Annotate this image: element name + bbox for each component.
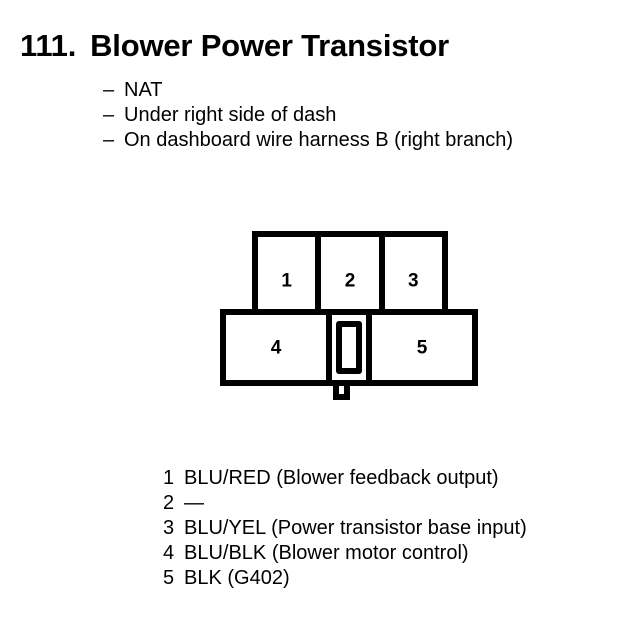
dash-icon: – bbox=[103, 103, 124, 128]
pin-number-5: 5 bbox=[372, 338, 472, 357]
dash-icon: – bbox=[103, 128, 124, 153]
pin-legend: 1 BLU/RED (Blower feedback output) 2 — 3… bbox=[163, 466, 603, 591]
legend-pin-number: 4 bbox=[163, 541, 184, 566]
page-title-number: 111. bbox=[20, 28, 76, 63]
connector-latch-icon bbox=[326, 315, 372, 380]
note-text: NAT bbox=[124, 78, 163, 103]
dash-icon: – bbox=[103, 78, 124, 103]
connector-cell-1: 1 bbox=[258, 237, 321, 315]
legend-pin-description: BLU/RED (Blower feedback output) bbox=[184, 466, 499, 491]
note-item: – NAT bbox=[103, 78, 623, 103]
connector-cell-2: 2 bbox=[321, 237, 384, 315]
legend-pin-description: — bbox=[184, 491, 204, 516]
legend-pin-description: BLU/YEL (Power transistor base input) bbox=[184, 516, 527, 541]
connector-lock-tab-icon bbox=[333, 386, 350, 400]
legend-row: 3 BLU/YEL (Power transistor base input) bbox=[163, 516, 603, 541]
page-title-label: Blower Power Transistor bbox=[90, 28, 449, 63]
legend-pin-description: BLK (G402) bbox=[184, 566, 290, 591]
note-text: Under right side of dash bbox=[124, 103, 336, 128]
connector-top-row: 1 2 3 bbox=[252, 231, 448, 315]
legend-pin-number: 1 bbox=[163, 466, 184, 491]
pin-number-1: 1 bbox=[258, 271, 315, 290]
legend-row: 2 — bbox=[163, 491, 603, 516]
pin-number-4: 4 bbox=[226, 338, 326, 357]
connector-cell-5: 5 bbox=[372, 315, 472, 380]
connector-diagram: 1 2 3 4 5 bbox=[220, 231, 478, 407]
note-item: – On dashboard wire harness B (right bra… bbox=[103, 128, 623, 153]
legend-pin-number: 3 bbox=[163, 516, 184, 541]
note-item: – Under right side of dash bbox=[103, 103, 623, 128]
note-text: On dashboard wire harness B (right branc… bbox=[124, 128, 513, 153]
legend-pin-number: 2 bbox=[163, 491, 184, 516]
connector-bottom-row: 4 5 bbox=[220, 309, 478, 386]
latch-inner-slot bbox=[336, 321, 362, 374]
legend-row: 4 BLU/BLK (Blower motor control) bbox=[163, 541, 603, 566]
connector-cell-3: 3 bbox=[385, 237, 442, 315]
legend-row: 1 BLU/RED (Blower feedback output) bbox=[163, 466, 603, 491]
legend-pin-number: 5 bbox=[163, 566, 184, 591]
legend-pin-description: BLU/BLK (Blower motor control) bbox=[184, 541, 469, 566]
pin-number-3: 3 bbox=[385, 271, 442, 290]
connector-cell-4: 4 bbox=[226, 315, 326, 380]
legend-row: 5 BLK (G402) bbox=[163, 566, 603, 591]
notes-list: – NAT – Under right side of dash – On da… bbox=[103, 78, 623, 153]
pin-number-2: 2 bbox=[321, 271, 378, 290]
page-title: 111.Blower Power Transistor bbox=[20, 27, 449, 65]
